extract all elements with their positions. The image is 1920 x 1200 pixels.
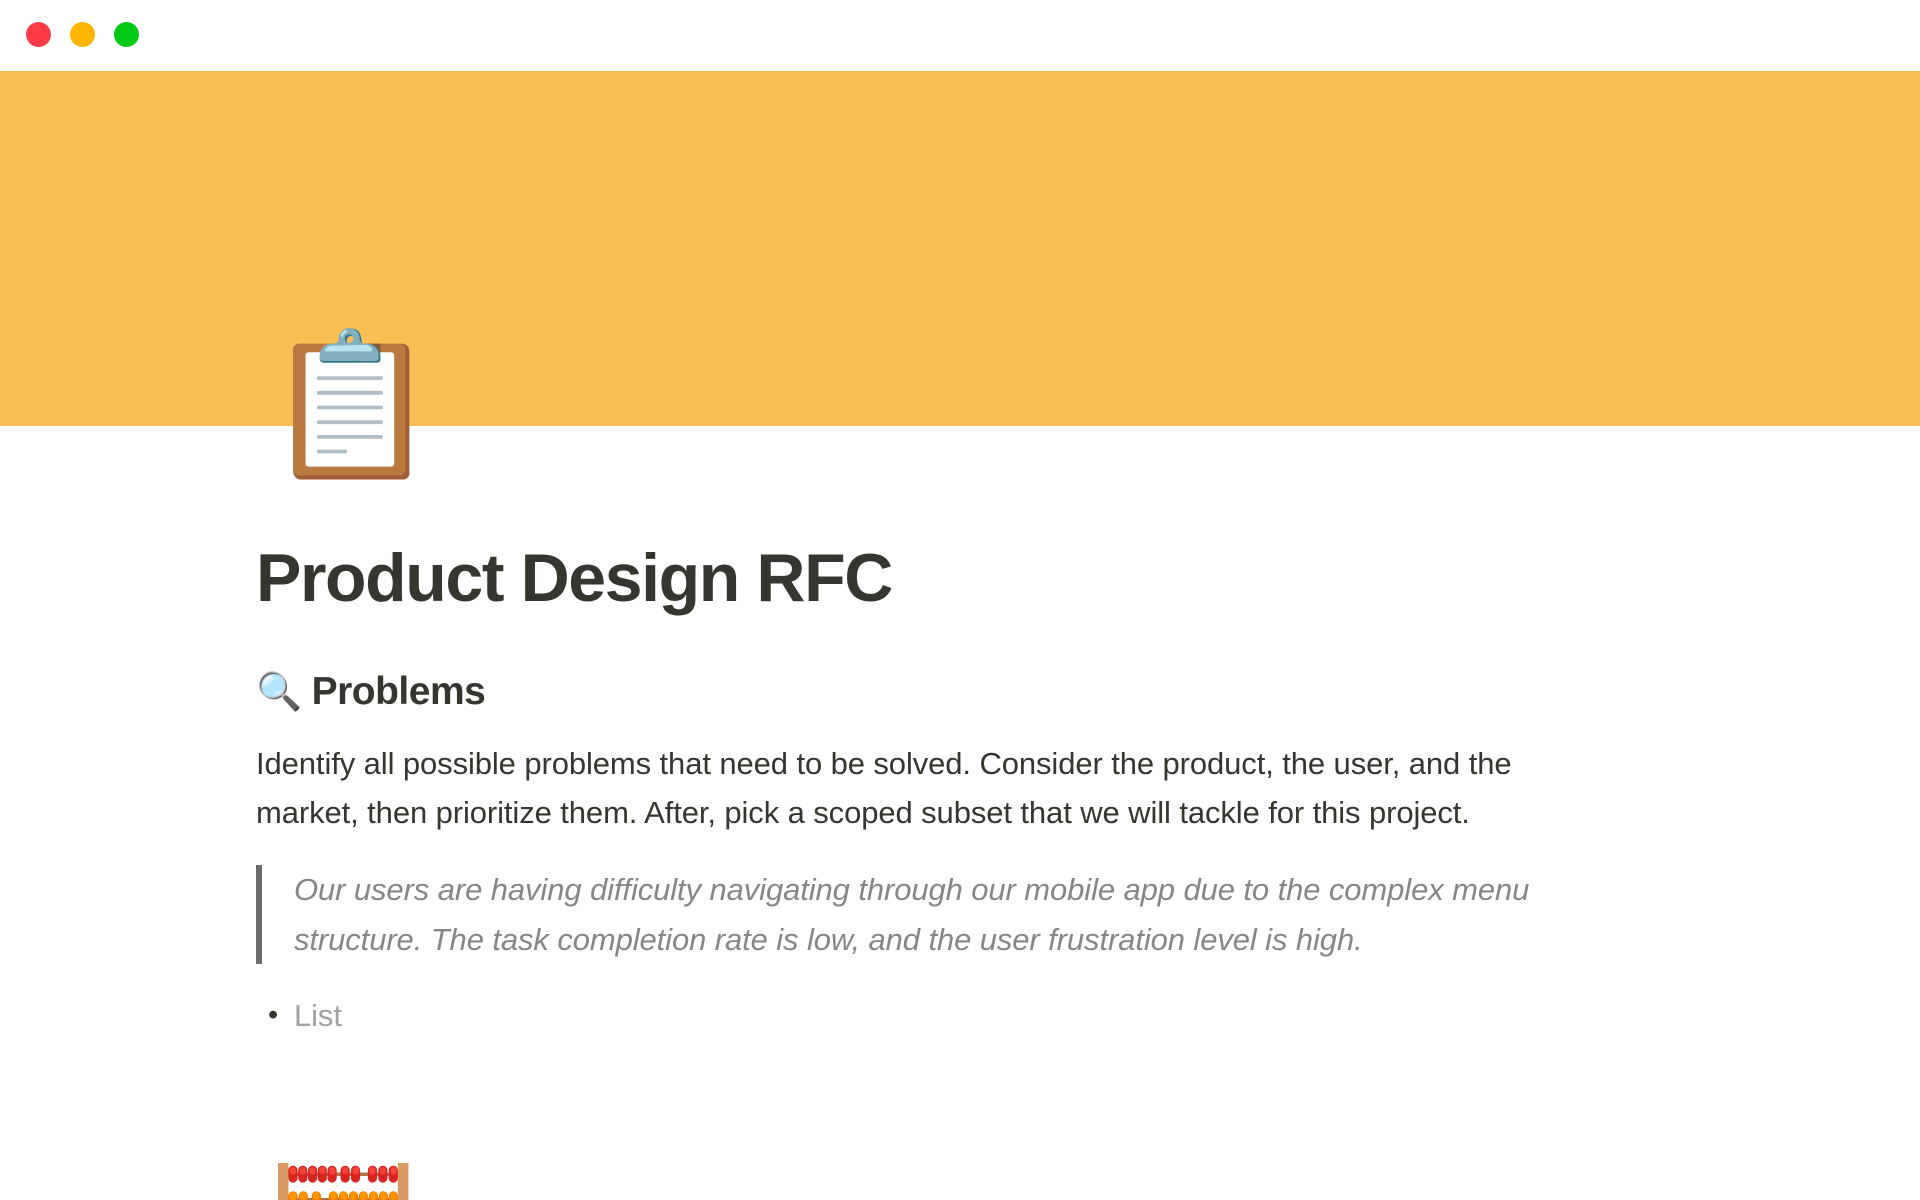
document-body: Product Design RFC 🔍 Problems Identify a… [256, 540, 1656, 1104]
bullet-marker-icon: • [256, 992, 294, 1039]
section-heading-problems[interactable]: 🔍 Problems [256, 668, 1656, 717]
maximize-window-button[interactable] [114, 22, 139, 47]
blockquote[interactable]: Our users are having difficulty navigati… [256, 865, 1636, 964]
close-window-button[interactable] [26, 22, 51, 47]
page-title[interactable]: Product Design RFC [256, 540, 1656, 616]
list-item-placeholder: List [294, 992, 342, 1040]
window-titlebar [0, 0, 1920, 71]
magnifying-glass-icon: 🔍 [256, 669, 302, 715]
bulleted-list: • List [256, 992, 1656, 1040]
blockquote-text: Our users are having difficulty navigati… [294, 865, 1636, 964]
clipboard-icon[interactable]: 📋 [264, 336, 414, 506]
minimize-window-button[interactable] [70, 22, 95, 47]
section-paragraph[interactable]: Identify all possible problems that need… [256, 739, 1616, 838]
section-heading-text: Problems [312, 668, 486, 717]
abacus-icon[interactable]: 🧮 [256, 1163, 430, 1200]
list-item[interactable]: • List [256, 992, 1656, 1040]
traffic-light-controls [26, 22, 139, 47]
app-window: 📋 Product Design RFC 🔍 Problems Identify… [0, 0, 1920, 1200]
